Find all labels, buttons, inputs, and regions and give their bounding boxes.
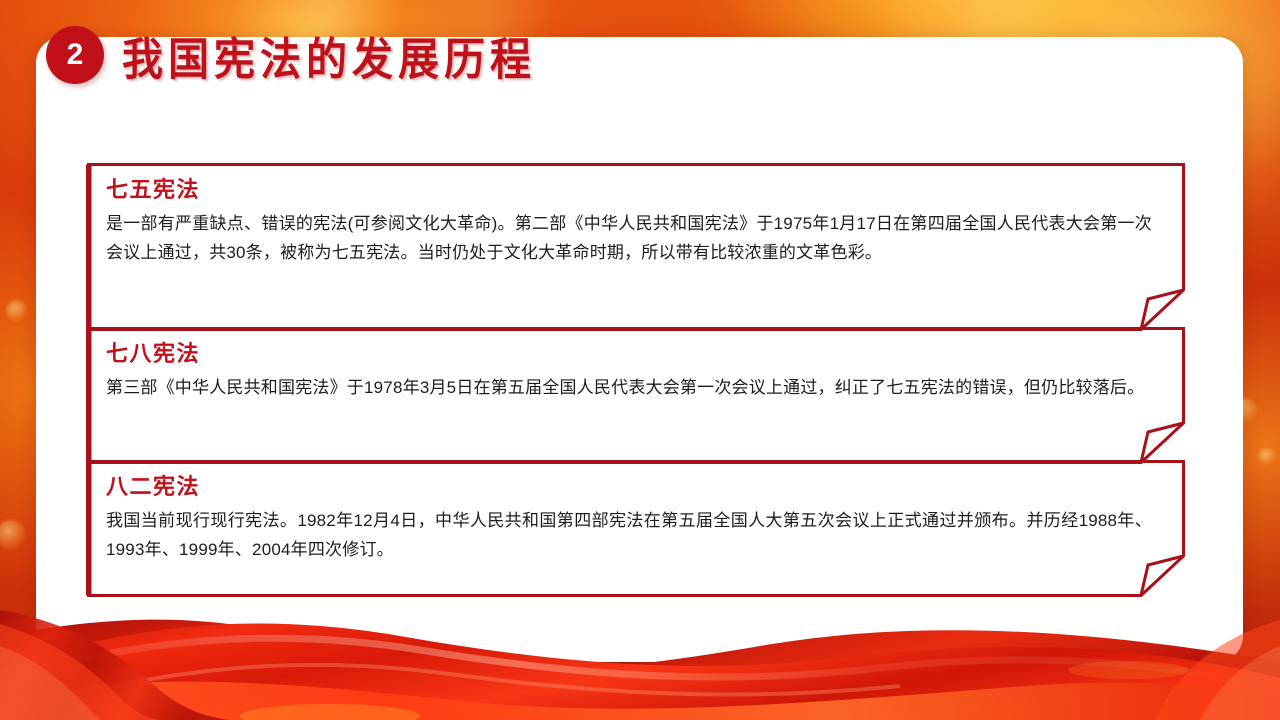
section-number-badge: 2: [46, 26, 104, 84]
card-title: 七八宪法: [106, 340, 1152, 369]
slide-canvas: 2 我国宪法的发展历程 七五宪法 是一部有严重缺点、错误的宪法(可参阅文化大革命…: [0, 0, 1280, 720]
card-qiba-constitution: 七八宪法 第三部《中华人民共和国宪法》于1978年3月5日在第五届全国人民代表大…: [86, 326, 1186, 436]
card-text: 是一部有严重缺点、错误的宪法(可参阅文化大革命)。第二部《中华人民共和国宪法》于…: [106, 209, 1152, 267]
bokeh-dot-2: [1258, 448, 1276, 466]
card-body: 七五宪法 是一部有严重缺点、错误的宪法(可参阅文化大革命)。第二部《中华人民共和…: [86, 162, 1186, 303]
slide-header: 2 我国宪法的发展历程: [46, 25, 536, 85]
bokeh-dot-3: [6, 300, 28, 322]
card-body: 七八宪法 第三部《中华人民共和国宪法》于1978年3月5日在第五届全国人民代表大…: [86, 326, 1186, 436]
card-title: 八二宪法: [106, 473, 1152, 502]
card-text: 第三部《中华人民共和国宪法》于1978年3月5日在第五届全国人民代表大会第一次会…: [106, 373, 1152, 402]
silk-ribbon-decoration: [0, 550, 1280, 720]
constitution-card-list: 七五宪法 是一部有严重缺点、错误的宪法(可参阅文化大革命)。第二部《中华人民共和…: [86, 162, 1186, 603]
card-qiwu-constitution: 七五宪法 是一部有严重缺点、错误的宪法(可参阅文化大革命)。第二部《中华人民共和…: [86, 162, 1186, 303]
card-title: 七五宪法: [106, 176, 1152, 205]
page-title: 我国宪法的发展历程: [122, 23, 536, 88]
